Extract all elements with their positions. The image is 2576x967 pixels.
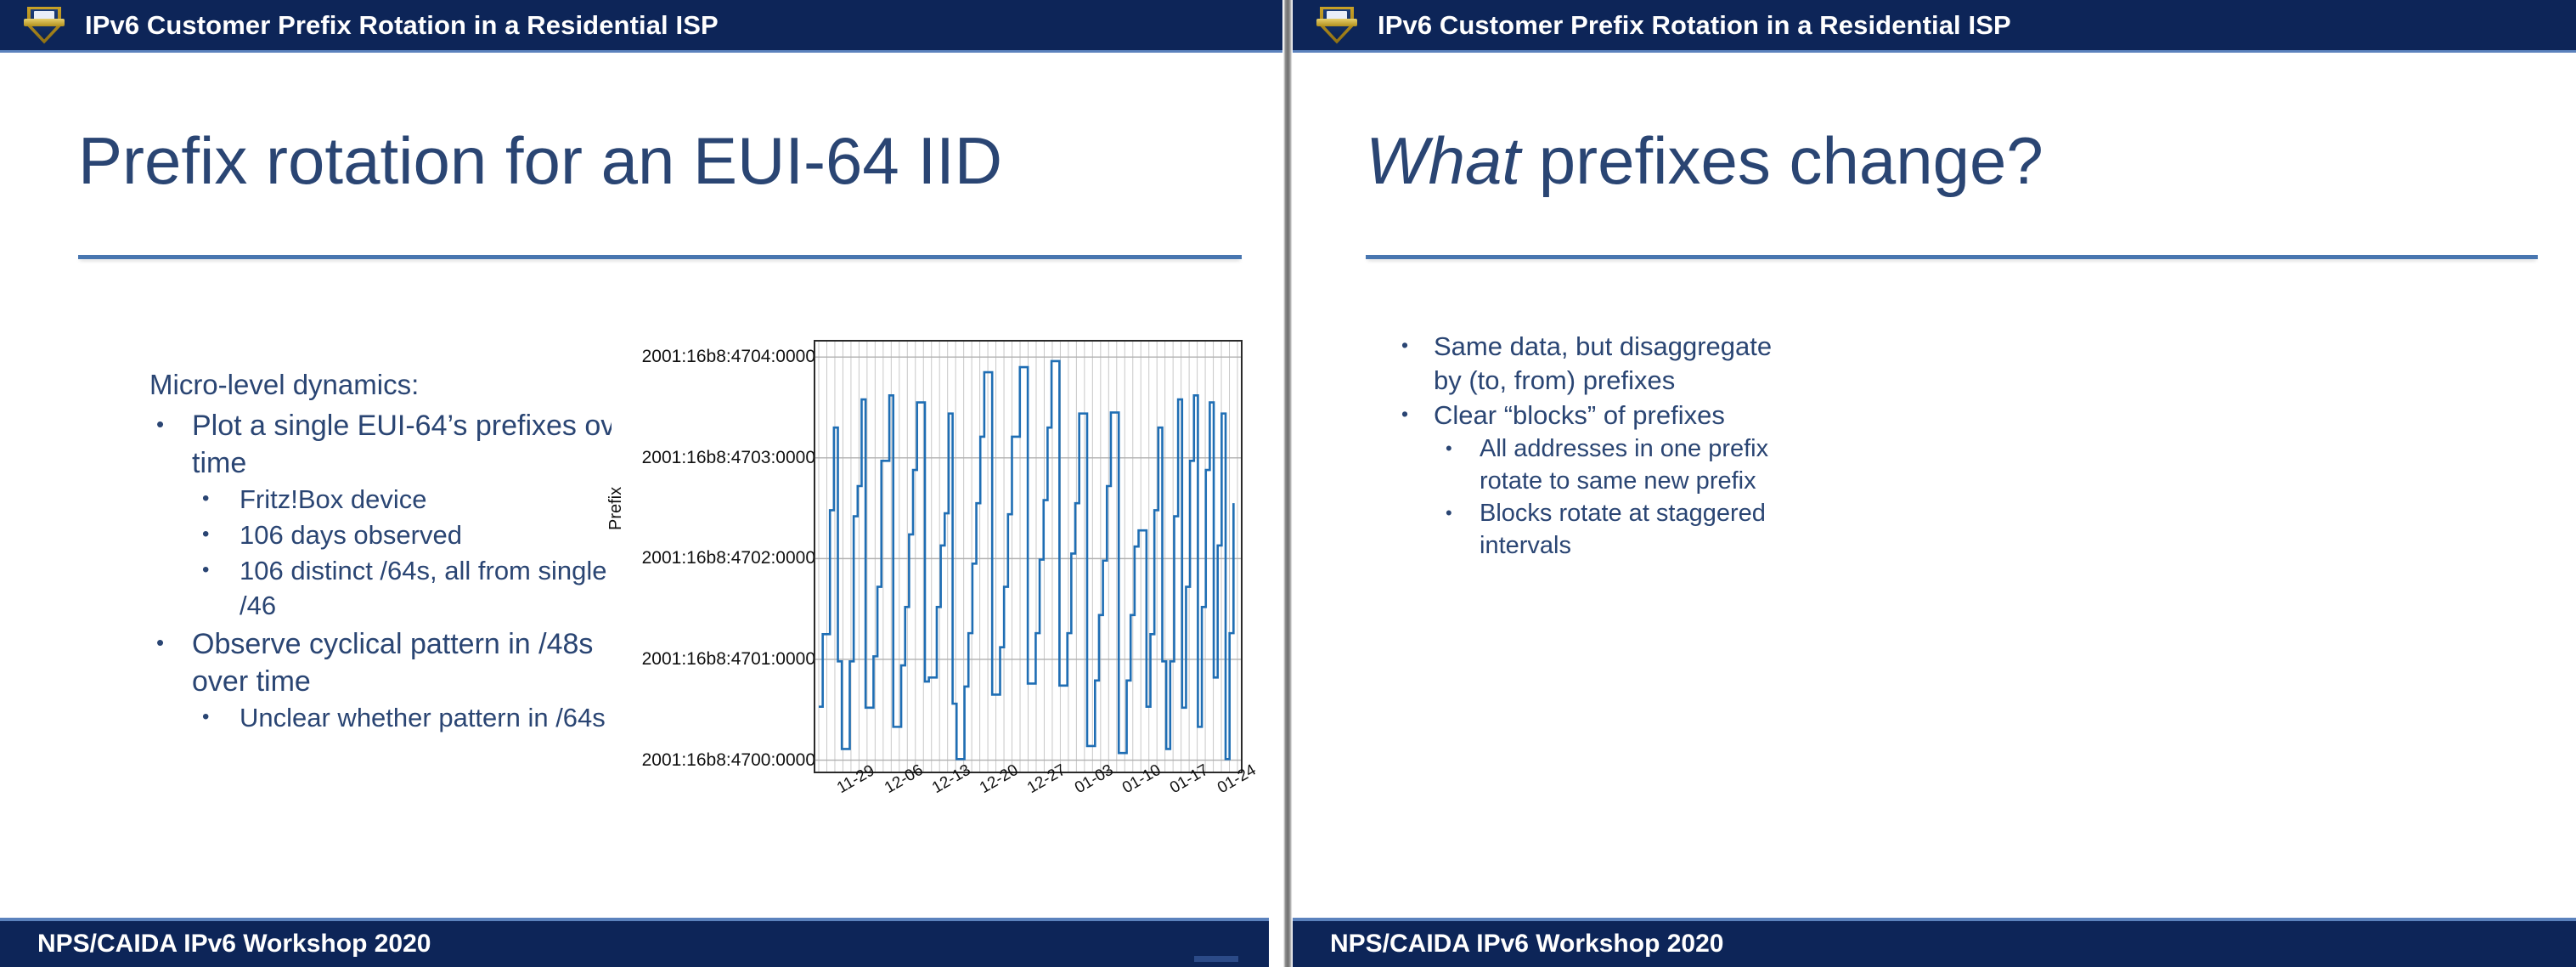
bullet-dot-icon: •: [1446, 498, 1452, 529]
y-tick-label: 2001:16b8:4702:0000: [620, 548, 815, 568]
list-item: • Clear “blocks” of prefixes • All addre…: [1398, 399, 1797, 562]
footer-text: NPS/CAIDA IPv6 Workshop 2020: [37, 930, 431, 959]
slide-deck: IPv6 Customer Prefix Rotation in a Resid…: [0, 0, 2576, 967]
y-tick-label: 2001:16b8:4704:0000: [620, 347, 815, 367]
y-tick-label: 2001:16b8:4700:0000: [620, 750, 815, 771]
y-tick-label: 2001:16b8:4701:0000: [620, 649, 815, 670]
prefix-rotation-chart: Prefix 2001:16b8:4700:00002001:16b8:4701…: [612, 333, 1257, 843]
bullet-text: Unclear whether pattern in /64s: [240, 703, 606, 732]
page-title: What prefixes change?: [1366, 126, 2538, 196]
y-axis-label: Prefix: [606, 487, 626, 530]
bullet-dot-icon: •: [156, 407, 164, 441]
list-item: • Observe cyclical pattern in /48s over …: [149, 625, 642, 736]
bullet-text: Blocks rotate at staggered intervals: [1480, 500, 1766, 559]
page-title-emphasis: What: [1366, 123, 1520, 198]
bullet-dot-icon: •: [1401, 399, 1408, 430]
slide-header-right: IPv6 Customer Prefix Rotation in a Resid…: [1293, 0, 2576, 53]
right-body: • Same data, but disaggregate by (to, fr…: [1398, 328, 1797, 563]
bullet-list-l1: • Same data, but disaggregate by (to, fr…: [1398, 330, 1797, 563]
left-body: Micro-level dynamics: • Plot a single EU…: [149, 367, 642, 736]
footer-text: NPS/CAIDA IPv6 Workshop 2020: [1330, 930, 1723, 959]
bullet-dot-icon: •: [202, 483, 209, 516]
bullet-dot-icon: •: [202, 554, 209, 587]
bullet-dot-icon: •: [202, 701, 209, 734]
step-line-svg: [815, 342, 1241, 772]
header-title: IPv6 Customer Prefix Rotation in a Resid…: [1378, 10, 2011, 41]
bullet-list-l2: • All addresses in one prefix rotate to …: [1434, 433, 1797, 563]
slide-footer-right: NPS/CAIDA IPv6 Workshop 2020: [1293, 918, 2576, 967]
plot-area: [814, 340, 1243, 773]
list-item: • 106 distinct /64s, all from single /46: [192, 554, 642, 624]
bullet-text: Clear “blocks” of prefixes: [1434, 400, 1725, 430]
list-item: • Plot a single EUI-64’s prefixes over t…: [149, 407, 642, 624]
slide-header-left: IPv6 Customer Prefix Rotation in a Resid…: [0, 0, 1282, 53]
list-item: • Blocks rotate at staggered intervals: [1434, 498, 1797, 562]
bullet-text: 106 days observed: [240, 520, 462, 550]
list-item: • All addresses in one prefix rotate to …: [1434, 433, 1797, 497]
slide-left: IPv6 Customer Prefix Rotation in a Resid…: [0, 0, 1282, 967]
bullet-dot-icon: •: [156, 625, 164, 659]
nps-shield-crest-icon: [1315, 2, 1359, 49]
list-item: • Same data, but disaggregate by (to, fr…: [1398, 330, 1797, 397]
bullet-dot-icon: •: [1446, 433, 1452, 464]
bullet-text: 106 distinct /64s, all from single /46: [240, 556, 607, 620]
header-title: IPv6 Customer Prefix Rotation in a Resid…: [85, 10, 719, 41]
bullet-dot-icon: •: [202, 518, 209, 551]
bullet-list-l2: • Unclear whether pattern in /64s: [192, 701, 642, 736]
bullet-list-l1: • Plot a single EUI-64’s prefixes over t…: [149, 407, 642, 736]
list-item: • Unclear whether pattern in /64s: [192, 701, 642, 736]
lead-text: Micro-level dynamics:: [149, 367, 642, 404]
bullet-dot-icon: •: [1401, 330, 1408, 361]
page-title: Prefix rotation for an EUI-64 IID: [78, 126, 1233, 196]
bullet-text: All addresses in one prefix rotate to sa…: [1480, 435, 1768, 495]
nps-shield-crest-icon: [22, 2, 66, 49]
slide-footer-left: NPS/CAIDA IPv6 Workshop 2020: [0, 918, 1269, 967]
bullet-text: Observe cyclical pattern in /48s over ti…: [192, 628, 593, 698]
page-title-rest: prefixes change?: [1520, 123, 2043, 198]
y-tick-label: 2001:16b8:4703:0000: [620, 448, 815, 468]
title-rule: [1366, 255, 2538, 259]
slide-right: IPv6 Customer Prefix Rotation in a Resid…: [1293, 0, 2576, 967]
footer-tick-mark: [1194, 956, 1238, 962]
title-rule: [78, 255, 1242, 259]
list-item: • Fritz!Box device: [192, 483, 642, 517]
bullet-list-l2: • Fritz!Box device • 106 days observed •…: [192, 483, 642, 624]
bullet-text: Same data, but disaggregate by (to, from…: [1434, 331, 1772, 395]
list-item: • 106 days observed: [192, 518, 642, 553]
bullet-text: Fritz!Box device: [240, 484, 427, 514]
bullet-text: Plot a single EUI-64’s prefixes over tim…: [192, 410, 641, 479]
slide-divider: [1282, 0, 1293, 967]
